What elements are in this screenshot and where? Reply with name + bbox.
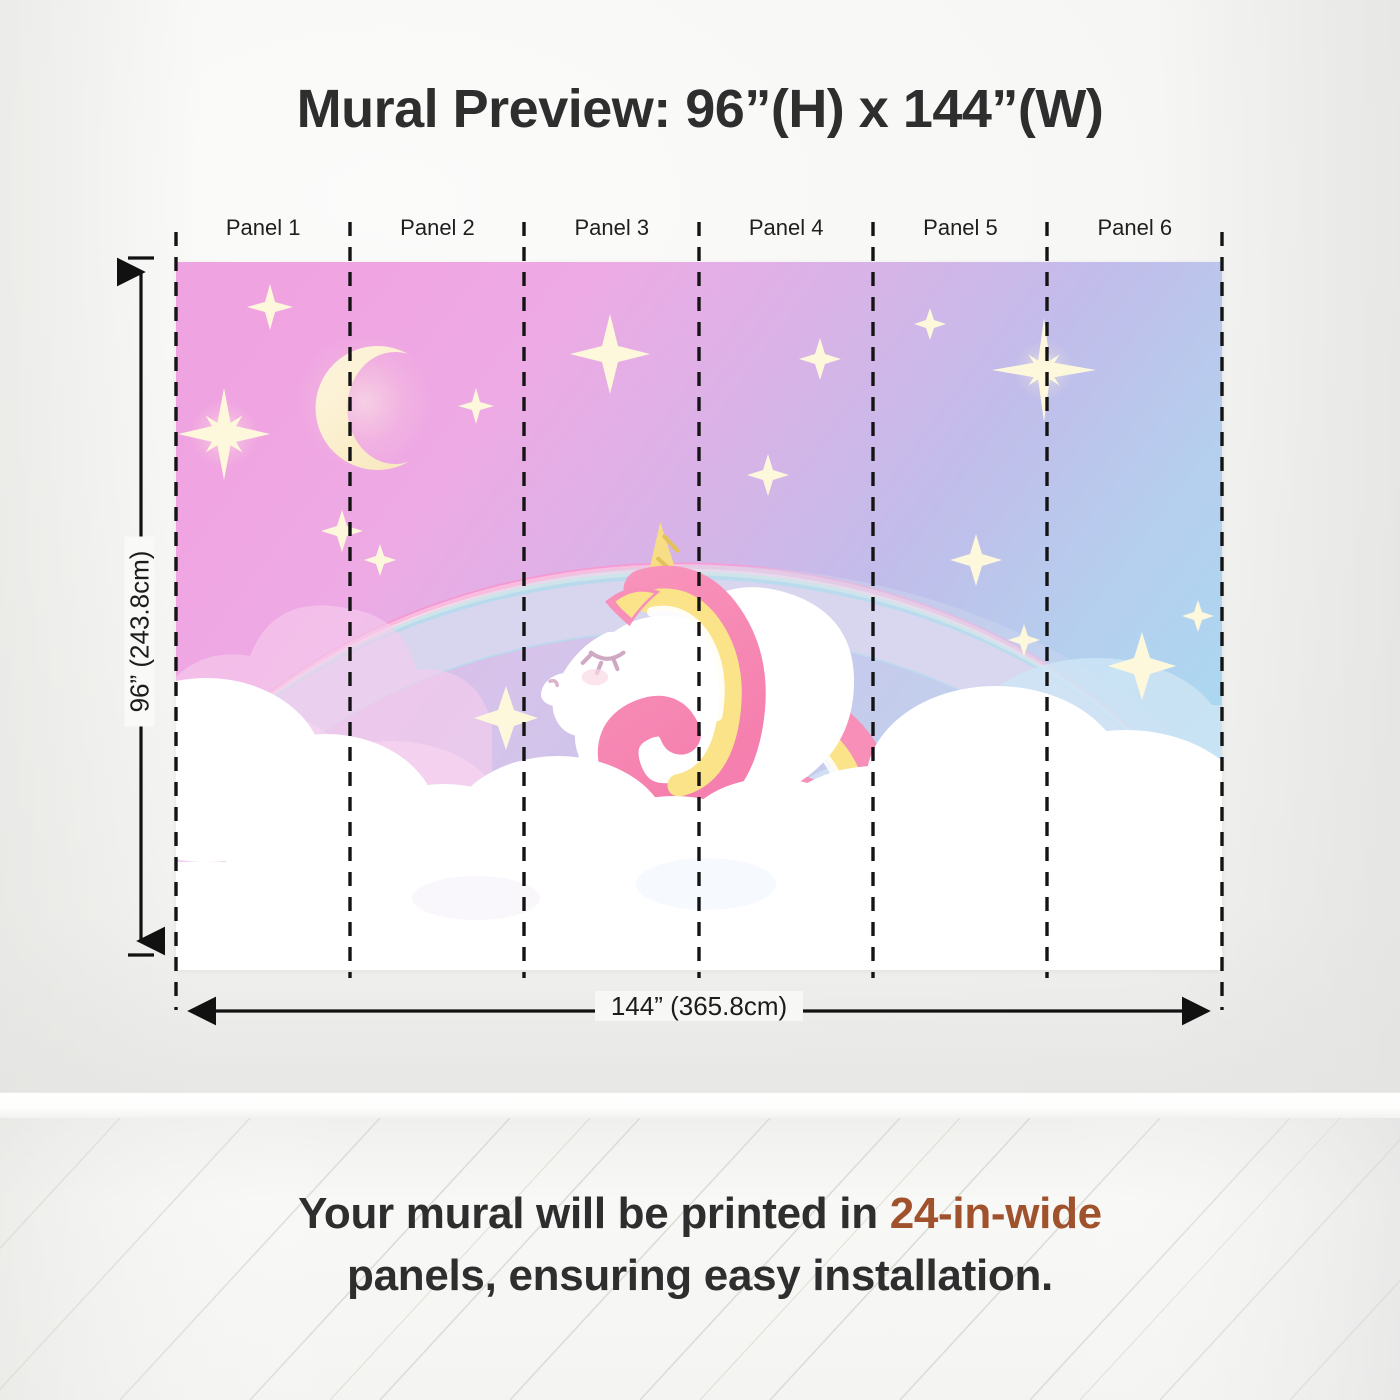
height-dimension-label: 96” (243.8cm)	[125, 462, 156, 802]
caption-line-1-prefix: Your mural will be printed in	[298, 1189, 890, 1238]
wall-baseboard	[0, 1092, 1400, 1120]
mural-preview-page: Mural Preview: 96”(H) x 144”(W) Panel 1 …	[0, 0, 1400, 1400]
height-dimension-text: 96” (243.8cm)	[125, 537, 155, 727]
caption-line-2: panels, ensuring easy installation.	[0, 1245, 1400, 1307]
width-dimension-text: 144” (365.8cm)	[595, 991, 803, 1021]
caption-line-1: Your mural will be printed in 24-in-wide	[0, 1183, 1400, 1245]
width-dimension-label: 144” (365.8cm)	[176, 991, 1222, 1022]
panel-divider-lines	[176, 222, 1222, 1010]
installation-caption: Your mural will be printed in 24-in-wide…	[0, 1183, 1400, 1307]
caption-accent-text: 24-in-wide	[890, 1189, 1102, 1238]
measurement-guides	[0, 0, 1400, 1096]
